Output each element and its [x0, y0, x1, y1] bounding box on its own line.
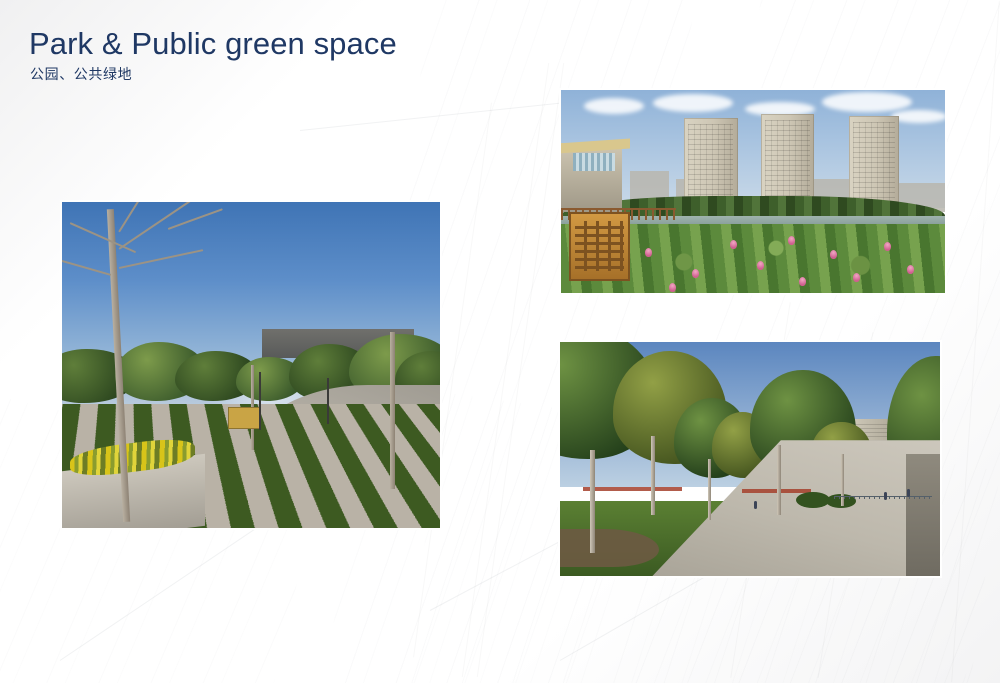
pedestrian — [884, 492, 887, 500]
lotus-pond-photo[interactable] — [559, 88, 947, 295]
photo-canvas — [560, 342, 940, 576]
watermark-diagonal — [300, 99, 598, 131]
lamp-post — [259, 372, 261, 431]
lotus-bloom — [669, 283, 676, 292]
watermark-diagonal — [60, 515, 276, 661]
lotus-bloom — [830, 250, 837, 259]
glass-facade — [573, 153, 615, 171]
tree-trunk — [708, 459, 711, 520]
cloud — [653, 94, 733, 112]
cloud — [584, 98, 644, 114]
photo-canvas — [561, 90, 945, 293]
page-title: Park & Public green space — [29, 27, 669, 62]
lotus-bloom — [730, 240, 737, 249]
watermark-strut — [477, 63, 564, 677]
tree-trunk — [390, 332, 395, 488]
tree-trunk — [777, 445, 781, 515]
lotus-bloom — [692, 269, 699, 278]
tree-trunk — [590, 450, 595, 553]
tree-trunk — [651, 436, 655, 516]
watermark-strut — [951, 1, 1000, 682]
lotus-bloom — [907, 265, 914, 274]
slide-heading: Park & Public green space 公园、公共绿地 — [29, 27, 669, 84]
photo-canvas — [62, 202, 440, 528]
pedestrian — [754, 501, 757, 509]
pedestrian — [907, 489, 910, 497]
lotus-bloom — [853, 273, 860, 282]
mulch-bed — [560, 529, 659, 566]
red-fence — [583, 487, 682, 491]
lamp-post — [327, 378, 329, 424]
lotus-bloom — [788, 236, 795, 245]
watermark-strut — [462, 63, 549, 677]
slide-canvas: Park & Public green space 公园、公共绿地 — [0, 0, 1000, 683]
wooden-pavilion — [569, 212, 630, 281]
park-sign — [228, 407, 260, 429]
shrub — [796, 492, 830, 508]
lotus-bloom — [757, 261, 764, 270]
park-striped-lawn-photo[interactable] — [60, 200, 442, 530]
lakeside-walkway-photo[interactable] — [558, 340, 942, 578]
lotus-bloom — [884, 242, 891, 251]
lotus-bloom — [799, 277, 806, 286]
walkway-kerb — [906, 454, 940, 576]
page-subtitle: 公园、公共绿地 — [30, 67, 669, 84]
cloud — [822, 92, 912, 112]
